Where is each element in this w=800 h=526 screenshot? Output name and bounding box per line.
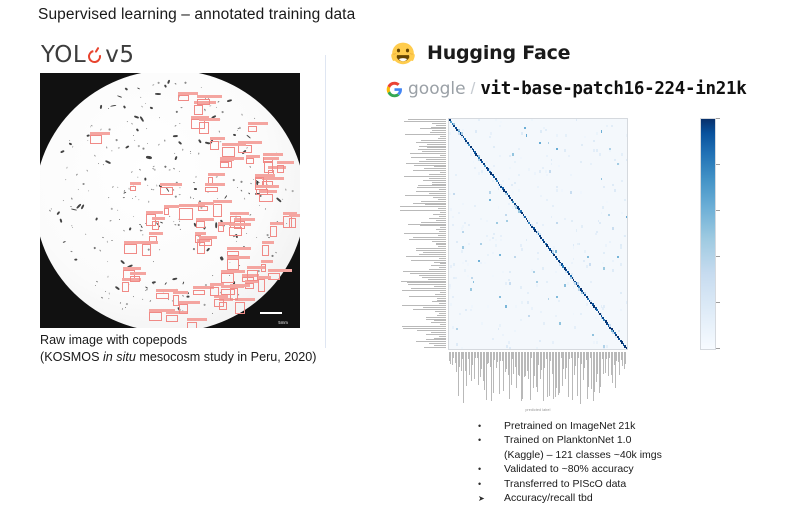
bullet-text: Accuracy/recall tbd bbox=[504, 492, 738, 505]
detection-box-label bbox=[210, 137, 225, 140]
detection-box-label bbox=[199, 236, 217, 239]
detection-box bbox=[124, 244, 137, 254]
detection-box-label bbox=[149, 232, 164, 235]
yolov5-logo-prefix: YOL bbox=[41, 44, 86, 67]
detection-box-label bbox=[262, 177, 283, 180]
colorbar-tick bbox=[716, 302, 720, 303]
detection-box-label bbox=[198, 202, 214, 205]
detection-box bbox=[149, 312, 163, 321]
bullet-marker: • bbox=[478, 478, 504, 491]
detection-box bbox=[218, 225, 224, 232]
detection-box-label bbox=[146, 211, 163, 214]
google-logo-icon bbox=[386, 81, 403, 98]
bullet-text: Trained on PlanktonNet 1.0 bbox=[504, 434, 738, 447]
detection-box-label bbox=[208, 173, 226, 176]
detection-box bbox=[230, 288, 238, 301]
detection-box-label bbox=[123, 267, 141, 270]
bullet-item: •Transferred to PIScO data bbox=[478, 478, 738, 491]
detection-box-label bbox=[142, 241, 158, 244]
detection-box bbox=[179, 208, 193, 220]
caption-italic: in situ bbox=[103, 350, 136, 364]
figure-caption: Raw image with copepods (KOSMOS in situ … bbox=[40, 332, 340, 366]
colorbar-tick bbox=[716, 256, 720, 257]
matrix-y-tick-labels bbox=[398, 118, 446, 350]
detection-box-label bbox=[205, 183, 225, 186]
page-title: Supervised learning – annotated training… bbox=[38, 6, 355, 24]
yolov5-logo: YOL v5 bbox=[41, 44, 134, 67]
detection-box-label bbox=[248, 122, 268, 125]
detection-box-label bbox=[196, 218, 214, 221]
bullet-marker: ➤ bbox=[478, 492, 504, 505]
detection-box bbox=[179, 304, 189, 314]
detection-box bbox=[247, 270, 258, 282]
detection-box bbox=[160, 187, 173, 195]
detection-box bbox=[229, 227, 242, 236]
caption-pre: (KOSMOS bbox=[40, 350, 103, 364]
colorbar-tick bbox=[716, 210, 720, 211]
bullet-text: Pretrained on ImageNet 21k bbox=[504, 420, 738, 433]
detection-box bbox=[205, 187, 218, 192]
bullet-marker: • bbox=[478, 434, 504, 447]
detection-box bbox=[196, 221, 206, 228]
detection-box bbox=[277, 165, 283, 173]
detection-box bbox=[222, 147, 235, 157]
detection-box-label bbox=[227, 256, 251, 259]
detection-box-label bbox=[160, 183, 182, 186]
detection-box bbox=[248, 126, 256, 132]
detection-box bbox=[198, 206, 208, 211]
detection-box bbox=[130, 276, 140, 282]
detection-box-label bbox=[264, 157, 280, 160]
model-org-label: google bbox=[408, 79, 466, 99]
detection-box-label bbox=[227, 247, 252, 250]
detection-box bbox=[166, 315, 178, 322]
bullet-item: (Kaggle) – 121 classes ~40k imgs bbox=[478, 449, 738, 462]
matrix-x-axis-title: predicted label bbox=[448, 408, 628, 412]
huggingface-label: Hugging Face bbox=[427, 42, 570, 64]
bullet-text: (Kaggle) – 121 classes ~40k imgs bbox=[504, 449, 738, 462]
caption-post: mesocosm study in Peru, 2020) bbox=[136, 350, 317, 364]
scale-bar bbox=[260, 312, 282, 314]
detection-box-label bbox=[230, 212, 249, 215]
colorbar-tick bbox=[716, 348, 720, 349]
detection-box-label bbox=[277, 161, 294, 164]
detection-box bbox=[194, 105, 203, 115]
confusion-matrix-plot bbox=[448, 118, 628, 350]
bullet-item: •Validated to ~80% accuracy bbox=[478, 463, 738, 476]
detection-box-label bbox=[229, 223, 251, 226]
huggingface-header: Hugging Face bbox=[388, 38, 570, 68]
detection-box-label bbox=[262, 241, 275, 244]
detection-box-label bbox=[152, 217, 165, 220]
detection-box-label bbox=[256, 185, 279, 188]
detection-box-label bbox=[199, 118, 220, 121]
detection-box bbox=[210, 287, 218, 296]
stopwatch-icon bbox=[87, 47, 104, 64]
detection-box-label bbox=[173, 291, 188, 294]
detection-box bbox=[187, 322, 197, 329]
detection-box bbox=[213, 204, 221, 217]
bullet-list: •Pretrained on ImageNet 21k•Trained on P… bbox=[478, 420, 738, 506]
slide-root: Supervised learning – annotated training… bbox=[0, 0, 800, 526]
detection-box-label bbox=[220, 157, 245, 160]
caption-line-1: Raw image with copepods bbox=[40, 332, 340, 349]
detection-box-label bbox=[197, 95, 223, 98]
yolov5-logo-suffix: v5 bbox=[105, 44, 134, 67]
detection-box bbox=[227, 259, 239, 270]
caption-line-2: (KOSMOS in situ mesocosm study in Peru, … bbox=[40, 349, 340, 366]
detection-box-label bbox=[187, 318, 207, 321]
detection-box bbox=[197, 99, 211, 105]
detection-box-label bbox=[178, 92, 198, 95]
detection-box bbox=[262, 245, 270, 256]
detection-box bbox=[199, 239, 212, 246]
detection-box-label bbox=[263, 153, 284, 156]
detection-box bbox=[235, 302, 245, 314]
detection-box-label bbox=[261, 260, 273, 263]
detection-box bbox=[270, 226, 278, 237]
bullet-text: Transferred to PIScO data bbox=[504, 478, 738, 491]
detection-box bbox=[246, 158, 255, 164]
detection-box bbox=[156, 293, 168, 299]
bullet-item: •Trained on PlanktonNet 1.0 bbox=[478, 434, 738, 447]
detection-box bbox=[130, 186, 135, 192]
model-identifier: google / vit-base-patch16-224-in21k bbox=[386, 79, 746, 99]
detection-box-label bbox=[221, 270, 245, 273]
detection-box-label bbox=[255, 174, 272, 177]
detection-box bbox=[199, 122, 209, 134]
bullet-marker: • bbox=[478, 420, 504, 433]
bullet-item: ➤Accuracy/recall tbd bbox=[478, 492, 738, 505]
detection-box-label bbox=[164, 205, 179, 208]
detection-box-label bbox=[230, 284, 249, 287]
detection-box bbox=[164, 208, 169, 215]
detection-box bbox=[178, 95, 189, 101]
detection-box-label bbox=[247, 266, 266, 269]
detection-box bbox=[214, 299, 224, 307]
detection-box bbox=[256, 189, 268, 195]
hugging-face-emoji bbox=[388, 38, 418, 68]
detection-box bbox=[220, 161, 233, 168]
detection-box-label bbox=[258, 276, 271, 279]
detection-box-label bbox=[195, 232, 207, 235]
detection-box-label bbox=[179, 301, 200, 304]
matrix-x-tick-labels bbox=[448, 352, 628, 410]
bullet-marker: • bbox=[478, 463, 504, 476]
detection-box-label bbox=[270, 222, 284, 225]
detection-box bbox=[221, 273, 234, 283]
detection-box-label bbox=[149, 309, 176, 312]
detection-box-label bbox=[268, 269, 292, 272]
detection-box-label bbox=[130, 272, 146, 275]
detection-box bbox=[258, 279, 265, 292]
confusion-matrix-figure: predicted label bbox=[398, 112, 728, 412]
copepod-microscope-image: 5mm bbox=[40, 73, 300, 328]
detection-box-label bbox=[130, 182, 141, 185]
detection-box-label bbox=[210, 283, 223, 286]
detection-box-label bbox=[222, 143, 246, 146]
colorbar-tick bbox=[716, 118, 720, 119]
detection-box-label bbox=[90, 132, 111, 135]
model-separator: / bbox=[471, 79, 476, 99]
colorbar-tick bbox=[716, 164, 720, 165]
detection-box bbox=[152, 221, 159, 231]
bullet-item: •Pretrained on ImageNet 21k bbox=[478, 420, 738, 433]
detection-box bbox=[193, 290, 205, 296]
scale-bar-label: 5mm bbox=[278, 320, 288, 325]
detection-box bbox=[142, 244, 152, 256]
colorbar bbox=[700, 118, 716, 350]
detection-box-label bbox=[124, 241, 142, 244]
bullet-text: Validated to ~80% accuracy bbox=[504, 463, 738, 476]
detection-box bbox=[289, 218, 296, 228]
detection-box-label bbox=[289, 214, 300, 217]
detection-box bbox=[210, 141, 218, 151]
detection-box bbox=[264, 161, 274, 174]
model-name-label: vit-base-patch16-224-in21k bbox=[480, 79, 746, 99]
detection-box bbox=[122, 282, 128, 293]
detection-box bbox=[90, 135, 102, 144]
vertical-divider bbox=[325, 55, 326, 348]
detection-box-label bbox=[246, 155, 260, 158]
detection-box-label bbox=[213, 200, 231, 203]
